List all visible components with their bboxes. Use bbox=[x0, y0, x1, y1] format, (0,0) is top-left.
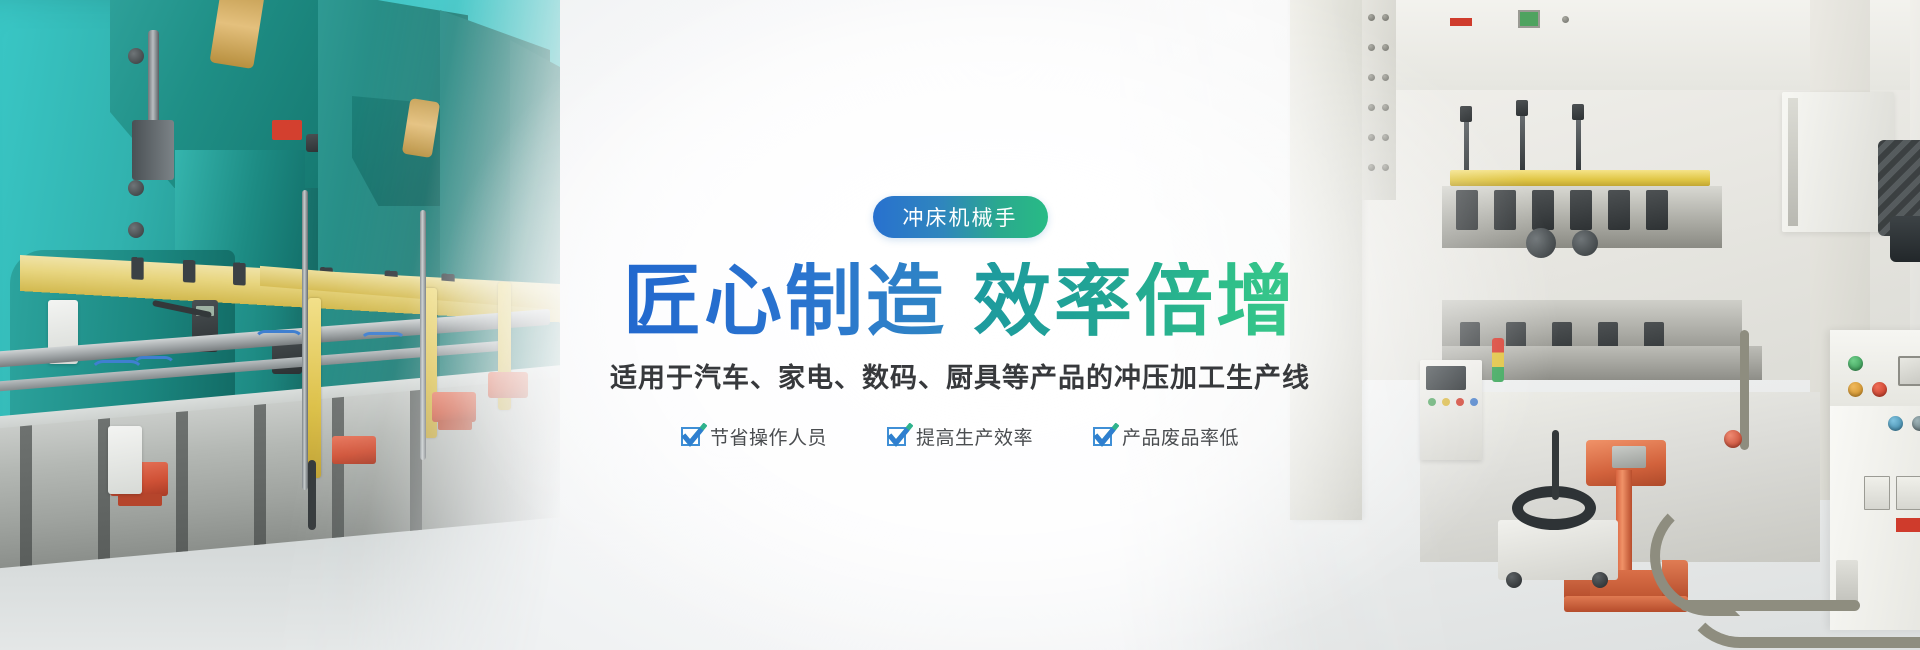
check-icon bbox=[1093, 427, 1112, 446]
status-led-blue bbox=[1470, 398, 1478, 406]
page-title: 匠心制造 效率倍增 bbox=[623, 262, 1297, 342]
cabinet-label-a bbox=[1864, 476, 1890, 510]
drive-motor bbox=[1890, 216, 1920, 262]
operator-display bbox=[1426, 366, 1466, 390]
die-cart bbox=[488, 372, 528, 398]
crown-green-label bbox=[1518, 10, 1540, 28]
safety-light-curtain bbox=[308, 298, 321, 478]
emergency-stop-button[interactable] bbox=[1724, 430, 1742, 448]
left-machine-photo bbox=[0, 0, 560, 650]
press-bolt-plate bbox=[1362, 0, 1396, 200]
cabinet-button-red[interactable] bbox=[1872, 382, 1887, 397]
feature-item-2: 提高生产效率 bbox=[887, 423, 1033, 450]
cart-wheel bbox=[1506, 572, 1522, 588]
air-hose bbox=[360, 332, 406, 352]
headline-part-two: 效率倍增 bbox=[973, 262, 1297, 342]
page-subtitle: 适用于汽车、家电、数码、厨具等产品的冲压加工生产线 bbox=[610, 356, 1310, 395]
headline-part-one: 匠心制造 bbox=[623, 262, 947, 342]
stack-light bbox=[1492, 338, 1504, 382]
feature-list: 节省操作人员 提高生产效率 产品废品率低 bbox=[681, 423, 1239, 450]
product-badge: 冲床机械手 bbox=[873, 196, 1048, 238]
feature-item-3: 产品废品率低 bbox=[1093, 423, 1239, 450]
floor-hose bbox=[1680, 588, 1920, 648]
foot-pedal-plate bbox=[1612, 446, 1646, 468]
press-bolt bbox=[128, 222, 144, 238]
press-warning-label bbox=[272, 120, 302, 140]
die-punch bbox=[1526, 228, 1556, 258]
feature-item-1: 节省操作人员 bbox=[681, 423, 827, 450]
yellow-tool-rail bbox=[1450, 170, 1710, 186]
cabinet-button-yellow[interactable] bbox=[1848, 382, 1863, 397]
cabinet-button-green[interactable] bbox=[1848, 356, 1863, 371]
press-fourth bbox=[510, 40, 560, 400]
crown-label bbox=[1450, 18, 1472, 26]
press-rod-plate bbox=[132, 120, 174, 180]
cart-wheel bbox=[1592, 572, 1608, 588]
die-punch bbox=[1572, 230, 1598, 256]
feature-label: 提高生产效率 bbox=[916, 423, 1033, 450]
cabinet-label-b bbox=[1896, 476, 1920, 510]
white-box bbox=[108, 426, 142, 494]
feature-label: 产品废品率低 bbox=[1122, 423, 1239, 450]
cabinet-button-blue[interactable] bbox=[1888, 416, 1903, 431]
lower-die-bed bbox=[1442, 300, 1742, 346]
feature-label: 节省操作人员 bbox=[710, 423, 827, 450]
press-bolt bbox=[128, 180, 144, 196]
cabinet-red-strip bbox=[1896, 518, 1920, 532]
press-left-column bbox=[1290, 0, 1362, 520]
status-led-red bbox=[1456, 398, 1464, 406]
die-cart bbox=[432, 392, 476, 422]
cabinet-vent bbox=[1788, 98, 1798, 226]
lower-die-bed-2 bbox=[1442, 346, 1762, 380]
die-cart bbox=[332, 436, 376, 464]
press-bolt bbox=[128, 48, 144, 64]
cabinet-meter bbox=[1898, 356, 1920, 386]
steel-pole bbox=[420, 210, 426, 460]
check-icon bbox=[887, 427, 906, 446]
hero-banner: 冲床机械手 匠心制造 效率倍增 适用于汽车、家电、数码、厨具等产品的冲压加工生产… bbox=[0, 0, 1920, 650]
cabinet-button-grey[interactable] bbox=[1912, 416, 1920, 431]
air-hose bbox=[132, 356, 176, 378]
check-icon bbox=[681, 427, 700, 446]
air-hose bbox=[254, 330, 304, 352]
status-led-yellow bbox=[1442, 398, 1450, 406]
status-led-green bbox=[1428, 398, 1436, 406]
